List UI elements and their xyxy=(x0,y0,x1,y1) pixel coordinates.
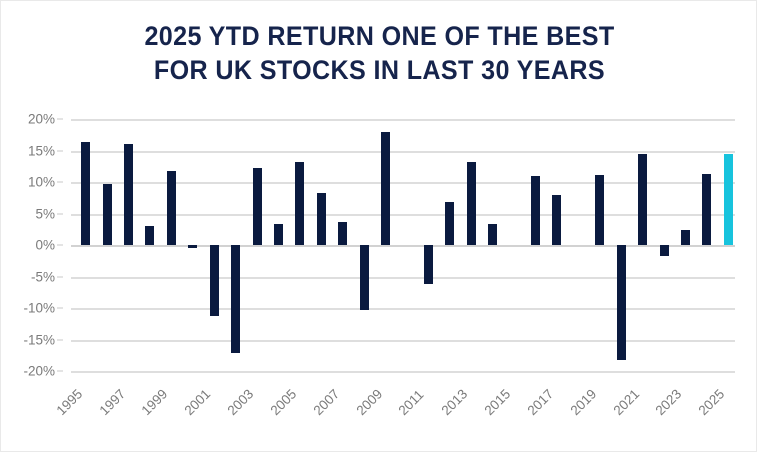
bar-1995 xyxy=(81,142,90,245)
y-tick-mark xyxy=(57,308,63,309)
y-tick-label: 20% xyxy=(28,112,55,127)
y-tick-mark xyxy=(57,150,63,151)
x-tick-label-2013: 2013 xyxy=(439,386,471,418)
bar-2024 xyxy=(702,174,711,245)
bar-2019 xyxy=(595,175,604,245)
bar-2016 xyxy=(531,176,540,245)
y-tick-label: -20% xyxy=(23,364,55,379)
y-tick-label: 5% xyxy=(35,206,55,221)
x-tick-label-1997: 1997 xyxy=(96,386,128,418)
y-tick-mark xyxy=(57,182,63,183)
plot-area xyxy=(71,119,735,371)
x-tick-label-2023: 2023 xyxy=(653,386,685,418)
bar-2014 xyxy=(488,224,497,245)
chart-frame: 2025 YTD RETURN ONE OF THE BEST FOR UK S… xyxy=(0,0,757,452)
y-tick-mark xyxy=(57,371,63,372)
y-axis: 20%15%10%5%0%-5%-10%-15%-20% xyxy=(1,119,63,371)
bar-2013 xyxy=(467,162,476,245)
y-tick-label: 0% xyxy=(35,238,55,253)
y-tick-mark xyxy=(57,339,63,340)
bar-2020 xyxy=(617,245,626,360)
bar-2023 xyxy=(681,230,690,245)
x-tick-label-2001: 2001 xyxy=(182,386,214,418)
y-tick-label: -10% xyxy=(23,301,55,316)
x-tick-label-2009: 2009 xyxy=(353,386,385,418)
y-tick-label: -5% xyxy=(31,269,55,284)
x-tick-label-2017: 2017 xyxy=(524,386,556,418)
bar-2009 xyxy=(381,132,390,245)
x-axis: 1995199719992001200320052007200920112013… xyxy=(71,375,735,445)
bar-1999 xyxy=(167,171,176,245)
y-tick-mark xyxy=(57,119,63,120)
bar-2021 xyxy=(638,154,647,245)
bar-2022 xyxy=(660,245,669,256)
bar-1998 xyxy=(145,226,154,245)
y-tick-mark xyxy=(57,213,63,214)
bar-2001 xyxy=(210,245,219,316)
x-tick-label-2025: 2025 xyxy=(696,386,728,418)
y-tick-label: 10% xyxy=(28,175,55,190)
bar-2017 xyxy=(552,195,561,245)
bar-1996 xyxy=(103,184,112,245)
bar-2008 xyxy=(360,245,369,310)
title-line-2: FOR UK STOCKS IN LAST 30 YEARS xyxy=(27,53,731,87)
title-line-1: 2025 YTD RETURN ONE OF THE BEST xyxy=(27,19,731,53)
bar-series xyxy=(71,119,735,371)
bar-2006 xyxy=(317,193,326,245)
x-tick-label-1995: 1995 xyxy=(53,386,85,418)
bar-2012 xyxy=(445,202,454,245)
bar-2011 xyxy=(424,245,433,284)
x-tick-label-2003: 2003 xyxy=(225,386,257,418)
chart-title: 2025 YTD RETURN ONE OF THE BEST FOR UK S… xyxy=(1,19,757,87)
x-tick-label-1999: 1999 xyxy=(139,386,171,418)
x-tick-label-2005: 2005 xyxy=(267,386,299,418)
bar-2004 xyxy=(274,224,283,245)
y-tick-label: 15% xyxy=(28,143,55,158)
x-tick-label-2007: 2007 xyxy=(310,386,342,418)
bar-2002 xyxy=(231,245,240,353)
bar-2007 xyxy=(338,222,347,245)
x-tick-label-2019: 2019 xyxy=(567,386,599,418)
y-tick-label: -15% xyxy=(23,332,55,347)
x-tick-label-2011: 2011 xyxy=(396,387,427,418)
y-tick-mark xyxy=(57,276,63,277)
x-tick-label-2021: 2021 xyxy=(610,386,642,418)
gridline xyxy=(71,371,735,373)
x-tick-label-2015: 2015 xyxy=(482,386,514,418)
bar-1997 xyxy=(124,144,133,245)
bar-2005 xyxy=(295,162,304,245)
bar-2025 xyxy=(724,154,733,245)
bar-2000 xyxy=(188,245,197,248)
y-tick-mark xyxy=(57,245,63,246)
bar-2003 xyxy=(253,168,262,245)
